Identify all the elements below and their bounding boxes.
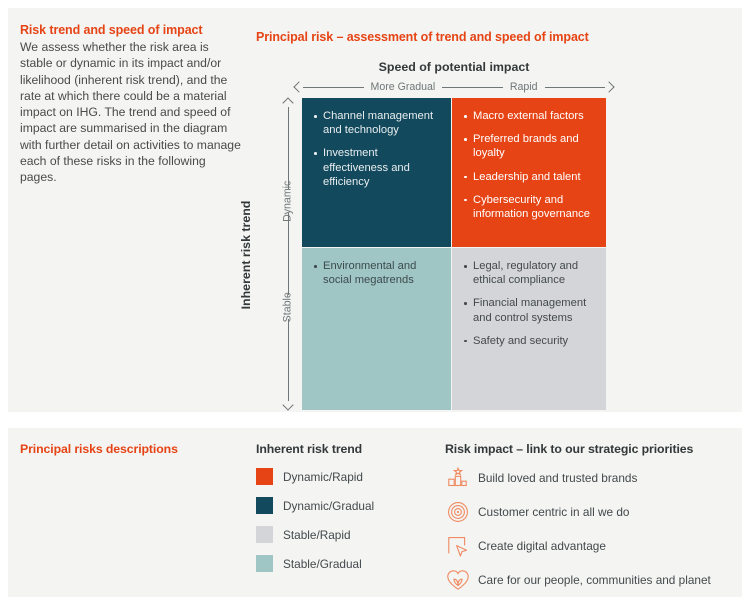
legend-impact-column: Risk impact – link to our strategic prio… [445, 442, 741, 592]
list-item: Preferred brands and loyalty [464, 132, 594, 160]
priority-label: Customer centric in all we do [478, 505, 629, 519]
legend-trend-column: Inherent risk trend Dynamic/Rapid Dynami… [256, 442, 436, 572]
list-item: Investment effectiveness and efficiency [314, 146, 439, 189]
quadrant-list: Macro external factors Preferred brands … [464, 109, 594, 221]
priority-label: Care for our people, communities and pla… [478, 573, 711, 587]
quadrant-list: Channel management and technology Invest… [314, 109, 439, 189]
priority-label: Create digital advantage [478, 539, 606, 553]
y-axis-label-stable: Stable [276, 292, 301, 322]
x-axis-line-mid [442, 87, 503, 88]
priority-item-care: Care for our people, communities and pla… [445, 567, 741, 592]
list-item: Financial management and control systems [464, 296, 594, 324]
intro-title: Risk trend and speed of impact [20, 22, 242, 38]
color-swatch [256, 497, 273, 514]
arrow-up-icon [284, 98, 293, 107]
bottom-legend-panel: Principal risks descriptions Inherent ri… [8, 428, 742, 597]
color-swatch [256, 555, 273, 572]
priority-item-digital: Create digital advantage [445, 533, 741, 558]
x-axis-line-left [303, 87, 364, 88]
legend-label: Dynamic/Gradual [283, 499, 374, 513]
priority-item-customer: Customer centric in all we do [445, 499, 741, 524]
y-axis-scale: Dynamic Stable [280, 98, 296, 410]
legend-trend-title: Inherent risk trend [256, 442, 436, 456]
x-axis-scale: More Gradual Rapid [294, 79, 614, 95]
legend-label: Dynamic/Rapid [283, 470, 363, 484]
color-swatch [256, 468, 273, 485]
risk-matrix-page: Risk trend and speed of impact We assess… [0, 0, 750, 605]
quadrant-list: Legal, regulatory and ethical compliance… [464, 259, 594, 348]
podium-star-icon [445, 465, 470, 490]
quadrant-list: Environmental and social megatrends [314, 259, 439, 287]
quadrant-dynamic-gradual: Channel management and technology Invest… [302, 98, 451, 247]
priority-label: Build loved and trusted brands [478, 471, 637, 485]
arrow-down-icon [284, 401, 293, 410]
legend-item-stable-gradual: Stable/Gradual [256, 555, 436, 572]
y-axis-label-dynamic: Dynamic [276, 180, 301, 221]
color-swatch [256, 526, 273, 543]
legend-item-stable-rapid: Stable/Rapid [256, 526, 436, 543]
quadrant-stable-gradual: Environmental and social megatrends [302, 248, 451, 410]
risk-quadrant-grid: Channel management and technology Invest… [302, 98, 606, 410]
y-axis-title: Inherent risk trend [239, 145, 253, 365]
x-axis-title: Speed of potential impact [302, 60, 606, 74]
intro-body: We assess whether the risk area is stabl… [20, 39, 242, 186]
x-axis-line-right [545, 87, 606, 88]
legend-label: Stable/Rapid [283, 528, 351, 542]
legend-impact-title: Risk impact – link to our strategic prio… [445, 442, 741, 456]
legend-label: Stable/Gradual [283, 557, 362, 571]
intro-block: Risk trend and speed of impact We assess… [20, 22, 242, 186]
list-item: Cybersecurity and information governance [464, 193, 594, 221]
matrix-title: Principal risk – assessment of trend and… [256, 30, 589, 44]
quadrant-stable-rapid: Legal, regulatory and ethical compliance… [452, 248, 606, 410]
heart-leaf-icon [445, 567, 470, 592]
legend-descriptions-column: Principal risks descriptions [20, 442, 250, 456]
y-axis-line-bottom [288, 319, 289, 401]
list-item: Channel management and technology [314, 109, 439, 137]
bullseye-target-icon [445, 499, 470, 524]
y-axis-line-mid [288, 213, 289, 295]
y-axis-line-top [288, 107, 289, 189]
legend-item-dynamic-rapid: Dynamic/Rapid [256, 468, 436, 485]
top-panel: Risk trend and speed of impact We assess… [8, 8, 742, 412]
list-item: Environmental and social megatrends [314, 259, 439, 287]
list-item: Macro external factors [464, 109, 594, 123]
screen-cursor-icon [445, 533, 470, 558]
list-item: Legal, regulatory and ethical compliance [464, 259, 594, 287]
x-axis-label-rapid: Rapid [503, 82, 545, 93]
list-item: Leadership and talent [464, 170, 594, 184]
priority-item-brands: Build loved and trusted brands [445, 465, 741, 490]
arrow-left-icon [294, 83, 303, 92]
legend-descriptions-title: Principal risks descriptions [20, 442, 250, 456]
quadrant-dynamic-rapid: Macro external factors Preferred brands … [452, 98, 606, 247]
arrow-right-icon [605, 83, 614, 92]
x-axis-label-gradual: More Gradual [364, 82, 443, 93]
legend-item-dynamic-gradual: Dynamic/Gradual [256, 497, 436, 514]
list-item: Safety and security [464, 334, 594, 348]
